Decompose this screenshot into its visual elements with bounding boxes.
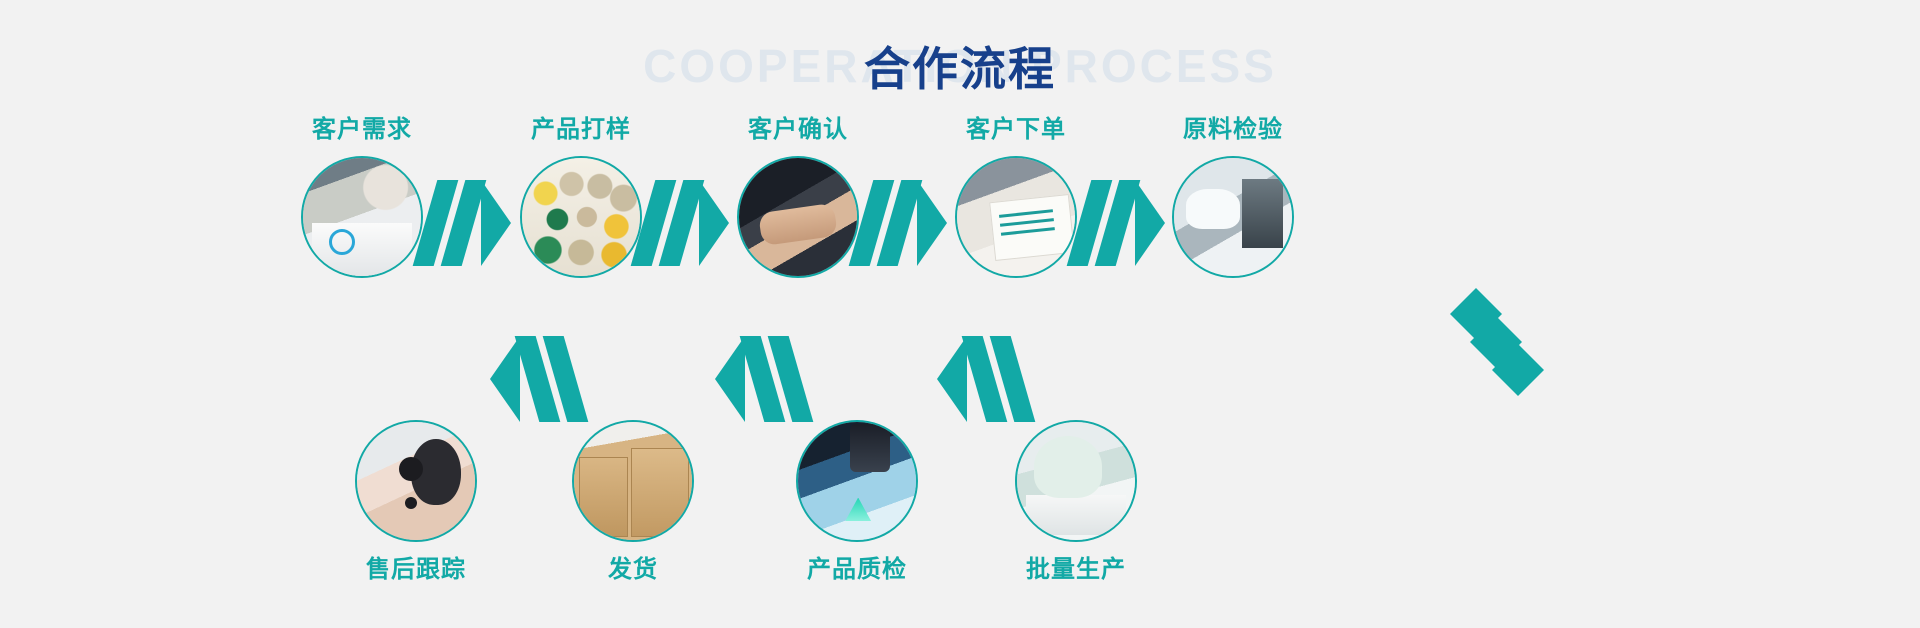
flow-step-label: 发货 xyxy=(558,558,708,582)
arrow-left-2 xyxy=(715,336,801,422)
arrow-right-2 xyxy=(643,180,729,266)
arrow-left-1 xyxy=(490,336,576,422)
flow-step-image xyxy=(955,156,1077,278)
arrow-right-3 xyxy=(861,180,947,266)
flow-step-image xyxy=(1015,420,1137,542)
flow-step-mass-production[interactable]: 批量生产 xyxy=(1001,420,1151,582)
flow-step-image xyxy=(796,420,918,542)
arrow-right-1 xyxy=(425,180,511,266)
page-title-block: COOPERATION PROCESS 合作流程 xyxy=(0,28,1920,104)
flow-step-label: 客户确认 xyxy=(723,118,873,142)
flow-step-image xyxy=(520,156,642,278)
flow-step-after-sales[interactable]: 售后跟踪 xyxy=(341,420,491,582)
flow-step-image xyxy=(737,156,859,278)
flow-step-label: 客户下单 xyxy=(941,118,1091,142)
flow-step-material-inspection[interactable]: 原料检验 xyxy=(1158,118,1308,278)
cooperation-process-banner: COOPERATION PROCESS 合作流程 客户需求 产品打样 客户确认 … xyxy=(0,0,1920,628)
page-title: 合作流程 xyxy=(864,33,1056,99)
flow-step-customer-confirm[interactable]: 客户确认 xyxy=(723,118,873,278)
flow-step-image xyxy=(1172,156,1294,278)
arrow-right-4 xyxy=(1079,180,1165,266)
diagonal-arrow-icon xyxy=(1440,286,1560,406)
arrow-diagonal-wrap xyxy=(1440,286,1560,406)
flow-step-customer-demand[interactable]: 客户需求 xyxy=(287,118,437,278)
flow-step-label: 原料检验 xyxy=(1158,118,1308,142)
flow-step-image xyxy=(572,420,694,542)
flow-step-quality-check[interactable]: 产品质检 xyxy=(782,420,932,582)
flow-step-label: 售后跟踪 xyxy=(341,558,491,582)
flow-step-shipping[interactable]: 发货 xyxy=(558,420,708,582)
flow-step-label: 产品质检 xyxy=(782,558,932,582)
flow-step-image xyxy=(355,420,477,542)
flow-step-label: 批量生产 xyxy=(1001,558,1151,582)
arrow-left-3 xyxy=(937,336,1023,422)
flow-step-label: 客户需求 xyxy=(287,118,437,142)
flow-step-label: 产品打样 xyxy=(506,118,656,142)
flow-step-customer-order[interactable]: 客户下单 xyxy=(941,118,1091,278)
flow-step-image xyxy=(301,156,423,278)
